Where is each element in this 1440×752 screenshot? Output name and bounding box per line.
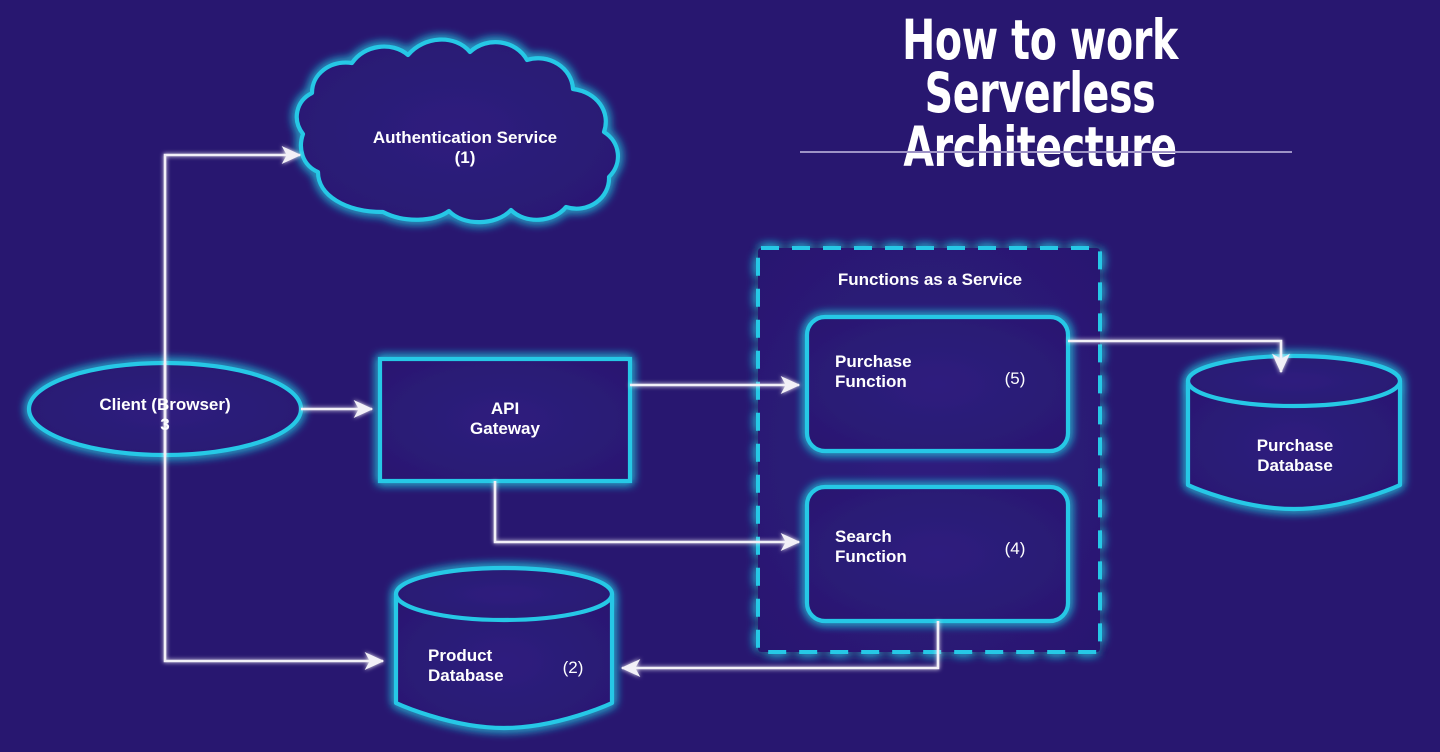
product-database-shape (396, 568, 612, 728)
title-underline (800, 151, 1292, 153)
diagram-canvas: How to work Serverless Architecture Auth… (0, 0, 1440, 752)
search-function-shape (807, 487, 1068, 621)
api-gateway-shape (380, 359, 630, 481)
purchase-function-shape (807, 317, 1068, 451)
purchase-database-shape (1188, 356, 1400, 509)
